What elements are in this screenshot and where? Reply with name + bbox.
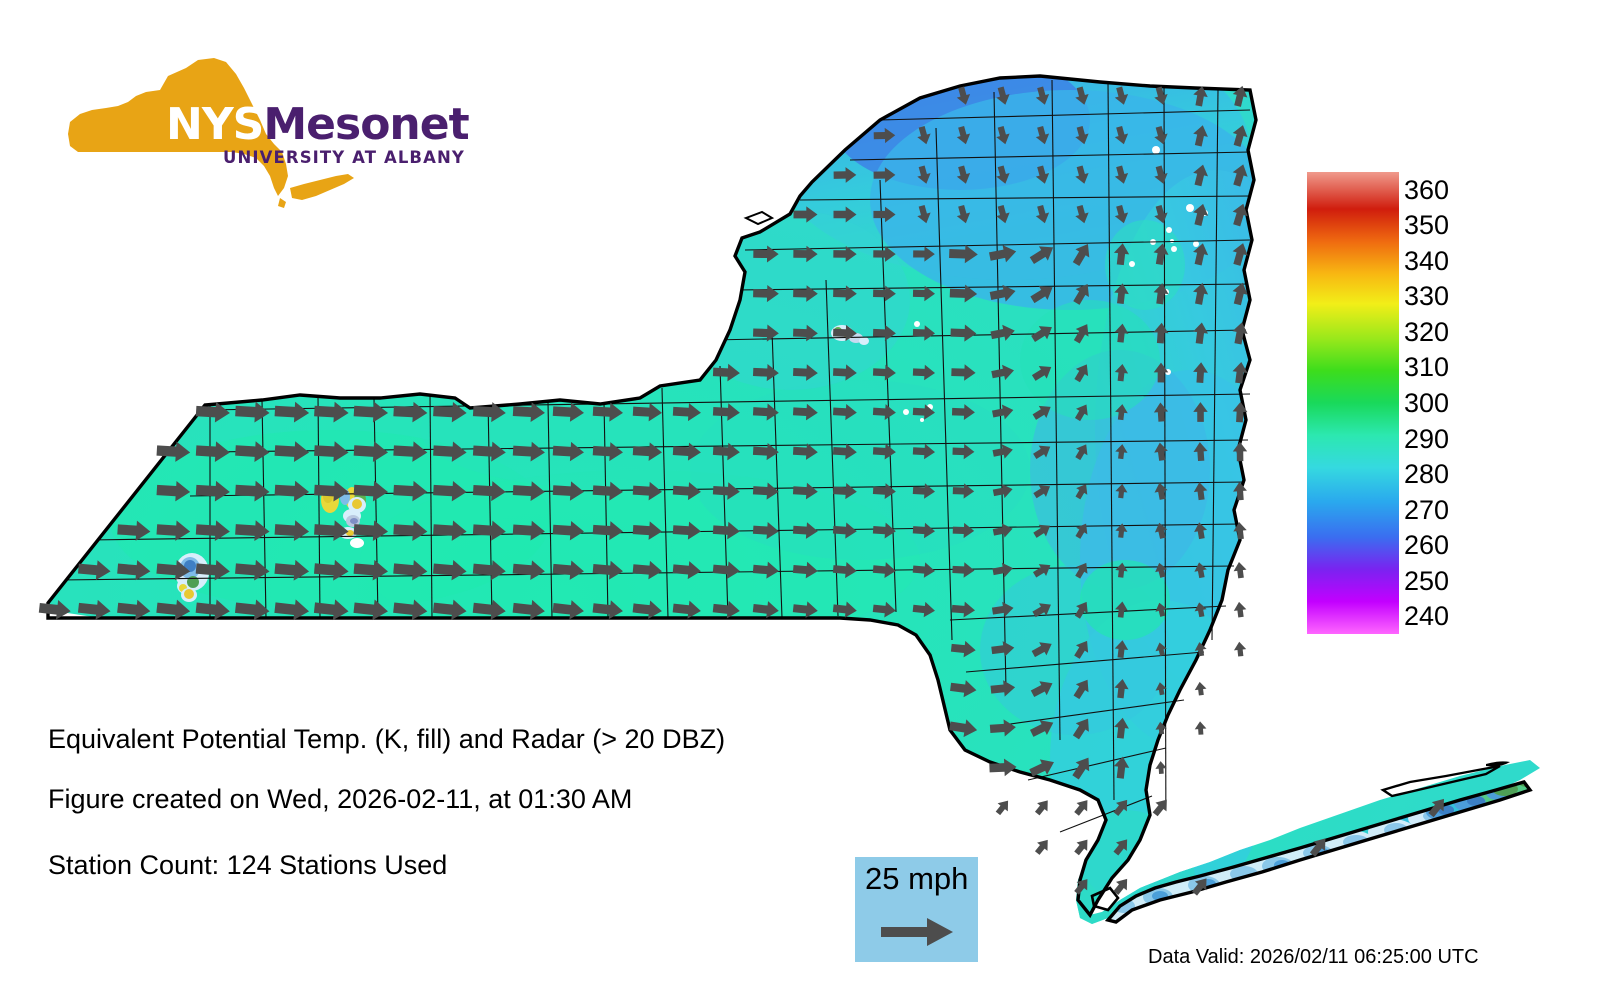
colorbar-gradient <box>1307 172 1399 634</box>
created-stamp: Figure created on Wed, 2026-02-11, at 01… <box>48 786 632 813</box>
wind-arrow <box>1233 641 1247 657</box>
colorbar-tick: 240 <box>1404 603 1449 630</box>
colorbar-tick: 330 <box>1404 283 1449 310</box>
station-count: Station Count: 124 Stations Used <box>48 852 447 879</box>
colorbar-tick: 360 <box>1404 177 1449 204</box>
colorbar-tick: 270 <box>1404 497 1449 524</box>
wind-arrow <box>993 797 1013 818</box>
wind-scale-legend: 25 mph <box>855 857 978 962</box>
colorbar-tick: 350 <box>1404 212 1449 239</box>
colorbar-tick: 250 <box>1404 568 1449 595</box>
colorbar-tick: 320 <box>1404 319 1449 346</box>
wind-arrow <box>1150 795 1173 818</box>
colorbar-tick: 340 <box>1404 248 1449 275</box>
wind-arrow <box>1032 796 1053 817</box>
wind-arrow <box>1194 721 1207 735</box>
colorbar <box>1307 172 1399 634</box>
colorbar-tick: 290 <box>1404 426 1449 453</box>
map-title: Equivalent Potential Temp. (K, fill) and… <box>48 726 725 753</box>
wind-arrow <box>1032 836 1053 857</box>
wind-arrow <box>1071 796 1092 818</box>
colorbar-tick: 280 <box>1404 461 1449 488</box>
wind-arrow-icon <box>881 915 955 949</box>
wind-arrow <box>1233 561 1248 579</box>
wind-scale-label: 25 mph <box>865 863 968 894</box>
colorbar-ticklabels: 360350340330320310300290280270260250240 <box>1404 172 1524 672</box>
wind-arrow <box>1233 601 1247 618</box>
wind-arrow <box>1194 681 1207 696</box>
data-valid-stamp: Data Valid: 2026/02/11 06:25:00 UTC <box>1148 947 1479 967</box>
colorbar-tick: 300 <box>1404 390 1449 417</box>
colorbar-tick: 260 <box>1404 532 1449 559</box>
colorbar-tick: 310 <box>1404 354 1449 381</box>
